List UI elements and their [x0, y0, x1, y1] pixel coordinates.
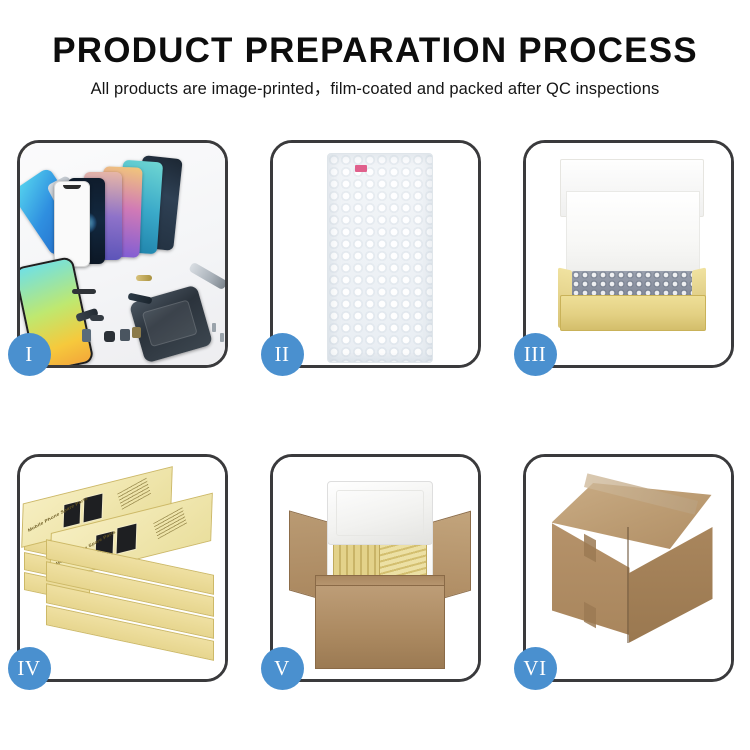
step-4-image: Mobile Phone Spare Parts Mobile Phone Sp… — [20, 457, 225, 679]
page-header: PRODUCT PREPARATION PROCESS All products… — [0, 0, 750, 100]
step-badge-6: VI — [514, 647, 557, 690]
step-5-image — [273, 457, 478, 679]
phone-screen-blank — [54, 181, 90, 267]
page-title: PRODUCT PREPARATION PROCESS — [0, 30, 750, 72]
part-small-5 — [90, 315, 104, 321]
step-card-4[interactable]: Mobile Phone Spare Parts Mobile Phone Sp… — [17, 454, 228, 682]
pink-label-tab — [355, 165, 367, 172]
inner-box-front-panel — [560, 295, 706, 331]
step-badge-4: IV — [8, 647, 51, 690]
step-card-2[interactable]: II — [270, 140, 481, 368]
step-6-image — [526, 457, 731, 679]
box-stack: Mobile Phone Spare Parts Mobile Phone Sp… — [20, 457, 225, 679]
step-2-image — [273, 143, 478, 365]
part-screw-1 — [212, 323, 216, 332]
styrofoam-lid — [327, 481, 433, 545]
inner-box-foam-sheet — [566, 191, 700, 281]
bubble-wrap-bag — [327, 153, 433, 363]
part-small-4 — [132, 327, 141, 338]
step-badge-1: I — [8, 333, 51, 376]
part-small-3 — [120, 329, 130, 341]
step-1-image — [20, 143, 225, 365]
part-small-1 — [82, 329, 91, 342]
step-3-image — [526, 143, 731, 365]
step-badge-3: III — [514, 333, 557, 376]
step-card-6[interactable]: VI — [523, 454, 734, 682]
step-card-1[interactable]: I — [17, 140, 228, 368]
part-screw-2 — [220, 333, 224, 342]
process-steps-grid: I II III — [0, 140, 750, 686]
step-badge-2: II — [261, 333, 304, 376]
step-badge-5: V — [261, 647, 304, 690]
part-small-2 — [104, 331, 115, 342]
carton-body — [315, 585, 445, 669]
step-card-3[interactable]: III — [523, 140, 734, 368]
sealed-carton-corner-edge — [627, 527, 629, 643]
box-spec-lines-2 — [153, 507, 187, 539]
box-spec-lines-1 — [117, 478, 151, 510]
part-strip — [72, 289, 96, 294]
box-window-4 — [115, 522, 137, 554]
page-subtitle: All products are image-printed，film-coat… — [0, 78, 750, 100]
step-card-5[interactable]: V — [270, 454, 481, 682]
part-button-flex — [136, 275, 152, 281]
